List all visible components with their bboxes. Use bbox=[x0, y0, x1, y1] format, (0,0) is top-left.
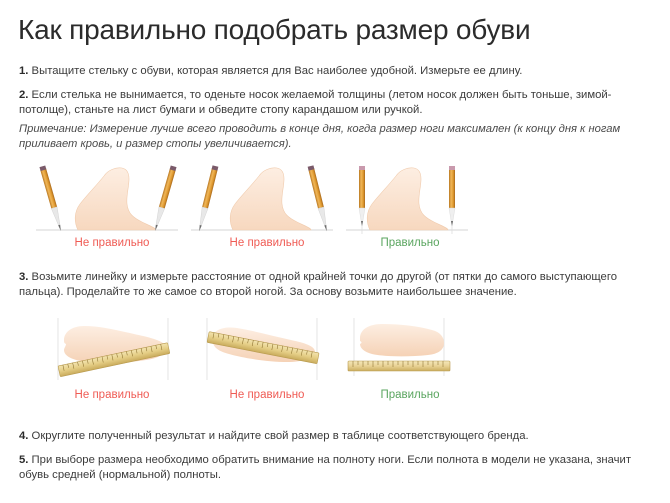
step-1-number: 1. bbox=[19, 65, 28, 77]
panel-caption-good-2: Правильно bbox=[320, 388, 500, 402]
pencil-left bbox=[39, 166, 63, 232]
panel-pencil-vertical: Правильно bbox=[340, 160, 520, 258]
step-4-paragraph: 4. Округлите полученный результат и найд… bbox=[19, 429, 657, 444]
foot-shape bbox=[230, 168, 311, 230]
note-paragraph: Примечание: Измерение лучше всего провод… bbox=[19, 122, 657, 151]
pencil-left bbox=[196, 165, 218, 231]
step-4-text: Округлите полученный результат и найдите… bbox=[28, 430, 528, 442]
step-5-number: 5. bbox=[19, 454, 28, 466]
pencil-left bbox=[359, 166, 365, 226]
foot-ruler-straight-illustration bbox=[340, 312, 520, 388]
foot-outline bbox=[360, 324, 444, 356]
foot-pencil-tilted-outward-illustration bbox=[30, 160, 210, 236]
step-2-paragraph: 2. Если стелька не вынимается, то оденьт… bbox=[19, 88, 657, 117]
illustration-row-rulers: Не правильно bbox=[0, 312, 670, 410]
step-4-number: 4. bbox=[19, 430, 28, 442]
illustration-row-pencils: Не правильно bbox=[0, 160, 670, 258]
step-1-text: Вытащите стельку с обуви, которая являет… bbox=[28, 65, 522, 77]
step-2-text: Если стелька не вынимается, то оденьте н… bbox=[19, 89, 611, 116]
step-1-paragraph: 1. Вытащите стельку с обуви, которая явл… bbox=[19, 64, 657, 79]
step-3-paragraph: 3. Возьмите линейку и измерьте расстояни… bbox=[19, 270, 657, 299]
shoe-size-guide-page: Как правильно подобрать размер обуви 1. … bbox=[0, 0, 670, 503]
page-title: Как правильно подобрать размер обуви bbox=[18, 14, 530, 46]
step-5-paragraph: 5. При выборе размера необходимо обратит… bbox=[19, 453, 657, 482]
panel-ruler-straight: Правильно bbox=[340, 312, 520, 410]
foot-shape bbox=[75, 168, 156, 230]
step-2-number: 2. bbox=[19, 89, 28, 101]
pencil-right bbox=[308, 165, 330, 231]
ruler bbox=[348, 361, 450, 371]
foot-pencil-tilted-inward-illustration bbox=[185, 160, 365, 236]
step-3-number: 3. bbox=[19, 271, 28, 283]
step-3-text: Возьмите линейку и измерьте расстояние о… bbox=[19, 271, 617, 298]
foot-pencil-vertical-illustration bbox=[340, 160, 520, 236]
foot-ruler-tilted-down-illustration bbox=[185, 312, 365, 388]
panel-caption-bad-3: Не правильно bbox=[22, 388, 202, 402]
foot-ruler-tilted-up-illustration bbox=[30, 312, 210, 388]
foot-shape bbox=[367, 168, 448, 230]
pencil-right bbox=[152, 166, 176, 232]
panel-caption-bad-1: Не правильно bbox=[22, 236, 202, 250]
pencil-right bbox=[449, 166, 455, 226]
step-5-text: При выборе размера необходимо обратить в… bbox=[19, 454, 631, 481]
panel-caption-good-1: Правильно bbox=[320, 236, 500, 250]
